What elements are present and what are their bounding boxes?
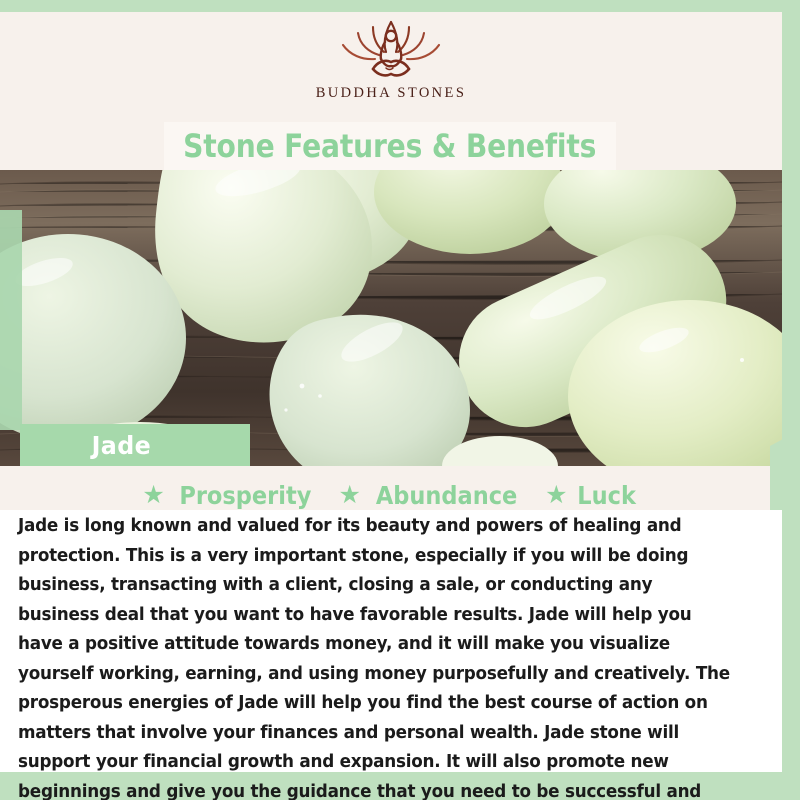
description-panel: Jade is long known and valued for its be… (0, 510, 782, 772)
benefit-label: Abundance (376, 481, 517, 510)
benefit-item-abundance: ★ Abundance (338, 481, 525, 510)
benefit-item-prosperity: ★ Prosperity (142, 481, 318, 510)
description-text: Jade is long known and valued for its be… (18, 512, 736, 800)
benefit-label: Luck (578, 481, 637, 510)
photo-left-green-accent (0, 210, 22, 430)
star-icon: ★ (338, 483, 360, 508)
stone-name: Jade (92, 431, 151, 460)
star-icon: ★ (142, 483, 164, 508)
lotus-meditation-icon (329, 16, 453, 82)
jade-stones-photo (0, 170, 782, 466)
star-icon: ★ (545, 483, 567, 508)
brand-wordmark: BUDDHA STONES (316, 85, 467, 102)
page-title: Stone Features & Benefits (183, 127, 596, 165)
benefit-item-luck: ★ Luck (545, 481, 640, 510)
title-banner: Stone Features & Benefits (164, 122, 616, 170)
stone-name-band: Jade (20, 424, 250, 466)
photo-artwork (0, 170, 782, 466)
brand-logo-block: BUDDHA STONES (0, 16, 782, 116)
benefit-label: Prosperity (179, 481, 311, 510)
benefits-row: ★ Prosperity ★ Abundance ★ Luck (0, 478, 782, 512)
frame-band-right (782, 0, 800, 800)
stone-info-poster: BUDDHA STONES Stone Features & Benefits (0, 0, 800, 800)
